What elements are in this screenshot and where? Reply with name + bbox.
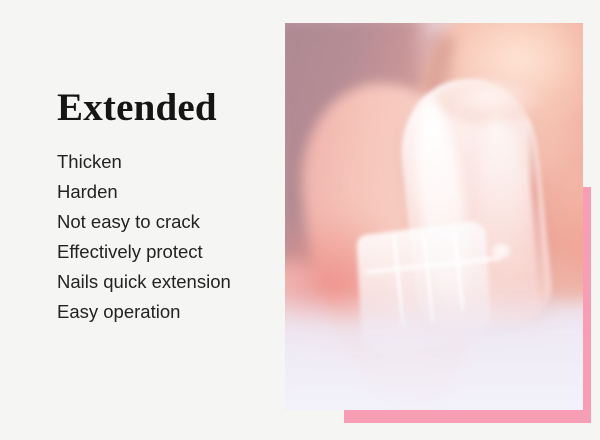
photo-nail-gloss	[407, 97, 477, 316]
photo-background-wash	[285, 23, 583, 410]
list-item: Not easy to crack	[57, 207, 272, 237]
photo-tip-sparkle	[490, 243, 512, 259]
photo-form-line	[453, 233, 464, 311]
nail-extension-closeup-photo	[285, 23, 583, 410]
photo-thumb	[413, 23, 583, 283]
accent-bar-bottom	[344, 410, 591, 423]
photo-extension-form	[356, 220, 491, 356]
photo-background-finger	[285, 23, 421, 263]
list-item: Thicken	[57, 147, 272, 177]
page-title: Extended	[57, 88, 272, 127]
photo-form-ridge	[365, 256, 501, 274]
photo-nail-sheen	[473, 113, 535, 296]
product-feature-banner: Extended Thicken Harden Not easy to crac…	[0, 0, 600, 440]
photo-soft-haze	[285, 23, 583, 410]
feature-list: Thicken Harden Not easy to crack Effecti…	[57, 147, 272, 327]
photo-right-skin	[513, 173, 583, 303]
photo-nail-cuticle	[435, 79, 545, 123]
photo-form-line	[423, 237, 435, 323]
list-item: Effectively protect	[57, 237, 272, 267]
photo-table-surface	[285, 291, 583, 410]
photo-index-finger	[296, 77, 494, 410]
photo-left-glow	[285, 218, 415, 358]
photo-form-line	[392, 235, 405, 327]
photo-nail-plate	[394, 73, 555, 336]
feature-text-column: Extended Thicken Harden Not easy to crac…	[57, 88, 272, 327]
list-item: Nails quick extension	[57, 267, 272, 297]
list-item: Easy operation	[57, 297, 272, 327]
photo-nail-edge	[526, 123, 546, 313]
list-item: Harden	[57, 177, 272, 207]
photo-skin-crease	[391, 31, 455, 234]
photo-knuckle-highlight	[453, 23, 583, 125]
